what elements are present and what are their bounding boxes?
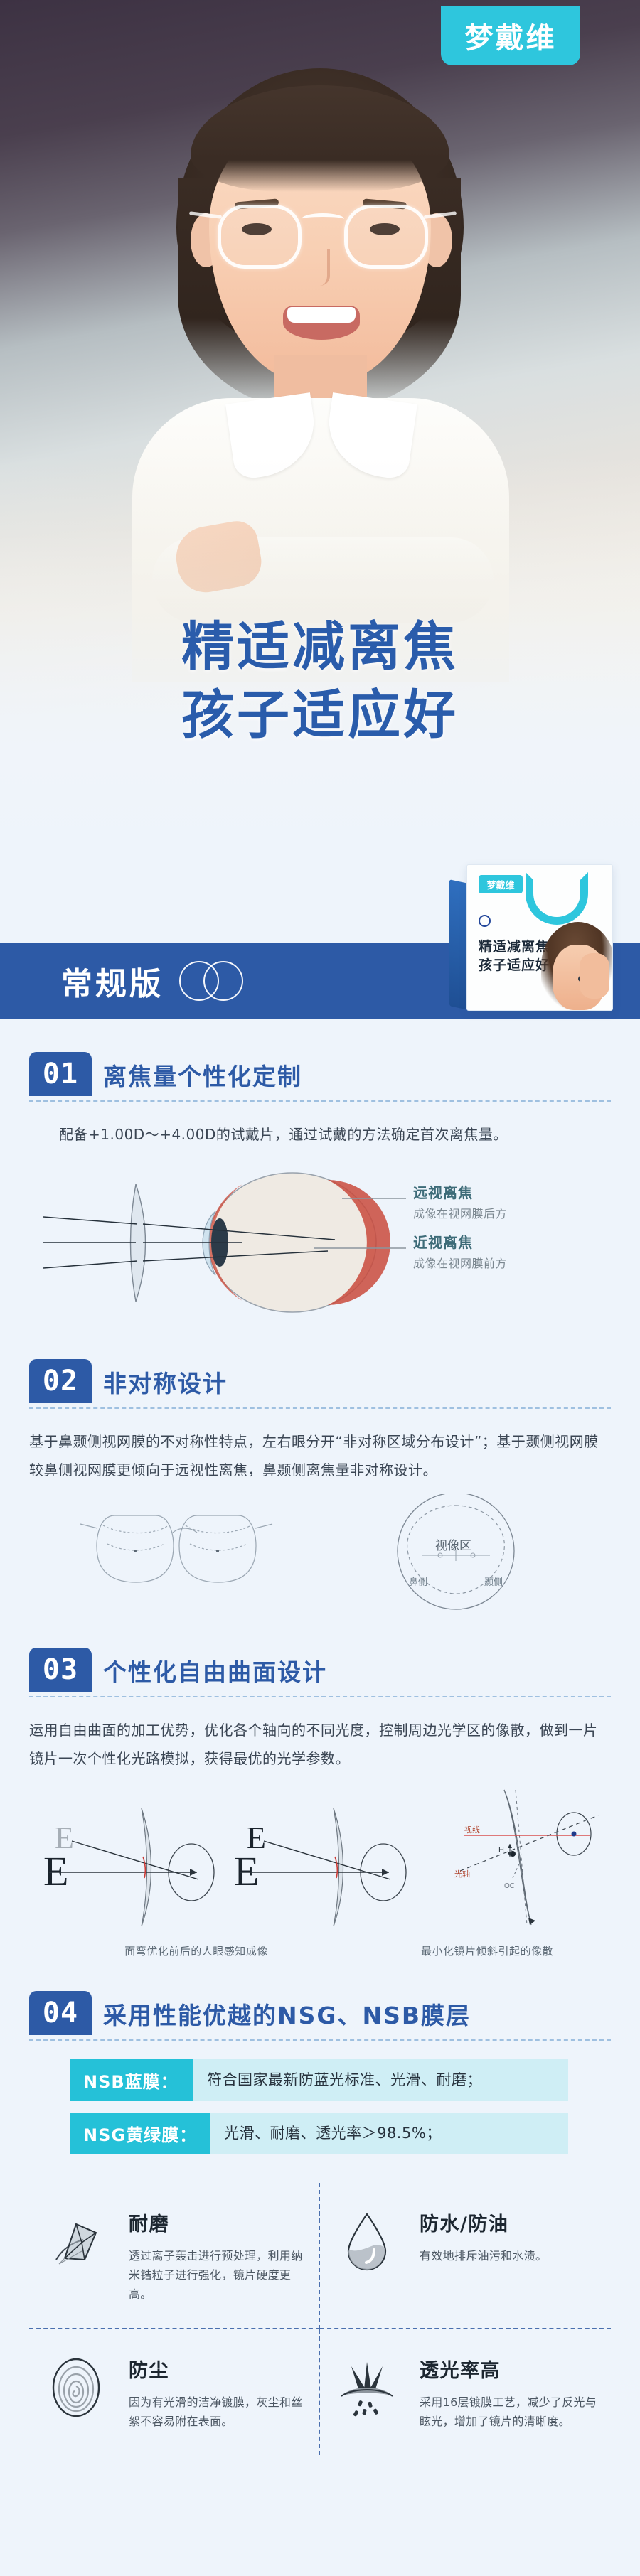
product-box-title-line-1: 精适减离焦 (479, 936, 550, 955)
hero-title-line-2: 孩子适应好 (0, 681, 640, 749)
eyeglass-bridge (302, 213, 344, 225)
product-box-circle-mark (479, 915, 491, 927)
label-imaging-zone: 视像区 (435, 1535, 471, 1553)
section-03-number: 03 (29, 1648, 92, 1692)
feature-text-waterproof-oilproof: 防水/防油 有效地排斥油污和水渍。 (420, 2204, 547, 2265)
feature-title-light-transmission: 透光率高 (420, 2355, 601, 2383)
product-box-child-hand (580, 953, 609, 999)
section-03-divider (29, 1696, 611, 1697)
brand-logo: 梦戴维 (441, 6, 580, 65)
figure-caption-1: 面弯优化前后的人眼感知成像 (29, 1943, 363, 1958)
feature-item-light-transmission: 透光率高 采用16层镀膜工艺，减少了反光与眩光，增加了镜片的清晰度。 (320, 2329, 611, 2455)
product-infographic-page: 梦戴维 精适减离焦 孩子适应好 常规版 梦戴维 精适减离焦 (0, 0, 640, 2484)
feature-title-waterproof-oilproof: 防水/防油 (420, 2209, 547, 2236)
diamond-icon (39, 2204, 113, 2278)
coating-list: NSB蓝膜： 符合国家最新防蓝光标准、光滑、耐磨； NSG黄绿膜： 光滑、耐磨、… (70, 2059, 611, 2154)
teeth-shape (287, 307, 356, 323)
label-temporal-side: 颞侧 (484, 1574, 503, 1588)
label-optic-axis: 光轴 (454, 1869, 470, 1879)
version-label: 常规版 (61, 958, 164, 1004)
section-02: 02 非对称设计 基于鼻颞侧视网膜的不对称性特点，左右眼分开“非对称区域分布设计… (29, 1359, 611, 1615)
label-oc: OC (504, 1882, 515, 1890)
figure-caption-2: 最小化镜片倾斜引起的像散 (363, 1943, 611, 1958)
product-box-title-line-2: 孩子适应好 (479, 955, 550, 974)
section-03: 03 个性化自由曲面设计 运用自由曲面的加工优势，优化各个轴向的不同光度，控制周… (29, 1648, 611, 1958)
feature-desc-light-transmission: 采用16层镀膜工艺，减少了反光与眩光，增加了镜片的清晰度。 (420, 2393, 601, 2431)
water-drop-icon (330, 2204, 404, 2278)
eyeglass-lens-left (218, 205, 302, 269)
product-box-front: 梦戴维 精适减离焦 孩子适应好 (466, 864, 613, 1011)
section-03-title: 个性化自由曲面设计 (103, 1653, 611, 1692)
letter-E-right-top: E (247, 1820, 266, 1855)
feature-desc-waterproof-oilproof: 有效地排斥油污和水渍。 (420, 2246, 547, 2265)
section-03-header: 03 个性化自由曲面设计 (29, 1648, 611, 1692)
section-02-number: 02 (29, 1359, 92, 1403)
product-box-arc-graphic (526, 872, 588, 925)
figure-asymmetric-lens-design: 视像区 鼻侧 颞侧 (29, 1494, 611, 1615)
section-04-number: 04 (29, 1991, 92, 2035)
version-banner: 常规版 梦戴维 精适减离焦 孩子适应好 (0, 943, 640, 1019)
freeform-optics-svg: E E E E (29, 1778, 611, 1942)
feature-text-wear-resistance: 耐磨 透过离子轰击进行预处理，利用纳米锆粒子进行强化，镜片硬度更高。 (129, 2204, 309, 2304)
section-02-divider (29, 1407, 611, 1409)
label-myopic-defocus: 近视离焦 成像在视网膜前方 (413, 1231, 507, 1271)
section-01-divider (29, 1100, 611, 1102)
feature-item-wear-resistance: 耐磨 透过离子轰击进行预处理，利用纳米锆粒子进行强化，镜片硬度更高。 (29, 2183, 320, 2329)
brand-logo-text: 梦戴维 (465, 15, 557, 56)
label-nasal-side: 鼻侧 (409, 1574, 427, 1588)
coating-key-nsb: NSB蓝膜： (70, 2059, 193, 2101)
content-sheet: 常规版 梦戴维 精适减离焦 孩子适应好 (0, 943, 640, 2484)
coating-row-nsb: NSB蓝膜： 符合国家最新防蓝光标准、光滑、耐磨； (70, 2059, 568, 2101)
coating-value-nsb: 符合国家最新防蓝光标准、光滑、耐磨； (193, 2059, 496, 2101)
feature-title-dustproof: 防尘 (129, 2355, 309, 2383)
label-hyperopic-defocus: 远视离焦 成像在视网膜后方 (413, 1181, 507, 1221)
figure-freeform-optics: E E E E (29, 1778, 611, 1942)
section-04: 04 采用性能优越的NSG、NSB膜层 NSB蓝膜： 符合国家最新防蓝光标准、光… (29, 1991, 611, 2455)
section-01-header: 01 离焦量个性化定制 (29, 1052, 611, 1096)
label-myopic-defocus-sub: 成像在视网膜前方 (413, 1254, 507, 1271)
feature-title-wear-resistance: 耐磨 (129, 2209, 309, 2236)
sections-container: 01 离焦量个性化定制 配备+1.00D～+4.00D的试戴片，通过试戴的方法确… (29, 1052, 611, 2455)
eye-diagram-svg (29, 1156, 611, 1326)
section-02-body: 基于鼻颞侧视网膜的不对称性特点，左右眼分开“非对称区域分布设计”；基于颞侧视网膜… (29, 1427, 611, 1484)
feature-grid: 耐磨 透过离子轰击进行预处理，利用纳米锆粒子进行强化，镜片硬度更高。 (29, 2183, 611, 2455)
figure-eye-defocus-diagram: 远视离焦 成像在视网膜后方 近视离焦 成像在视网膜前方 (29, 1156, 611, 1326)
feature-text-dustproof: 防尘 因为有光滑的洁净镀膜，灰尘和丝絮不容易附在表面。 (129, 2351, 309, 2431)
coating-key-nsg: NSG黄绿膜： (70, 2113, 210, 2154)
section-01-number: 01 (29, 1052, 92, 1096)
coating-row-nsg: NSG黄绿膜： 光滑、耐磨、透光率＞98.5%； (70, 2113, 568, 2154)
label-height-h: H (498, 1846, 504, 1855)
hair-fringe (191, 85, 449, 192)
label-myopic-defocus-title: 近视离焦 (413, 1231, 507, 1252)
label-hyperopic-defocus-title: 远视离焦 (413, 1181, 507, 1202)
feature-item-waterproof-oilproof: 防水/防油 有效地排斥油污和水渍。 (320, 2183, 611, 2329)
eyeglass-lens-right (344, 205, 428, 269)
overlapping-circles-icon (179, 961, 245, 1001)
section-04-title: 采用性能优越的NSG、NSB膜层 (103, 1997, 611, 2035)
coating-value-nsg: 光滑、耐磨、透光率＞98.5%； (210, 2113, 456, 2154)
section-03-body: 运用自由曲面的加工优势，优化各个轴向的不同光度，控制周边光学区的像散，做到一片镜… (29, 1716, 611, 1773)
section-01-body: 配备+1.00D～+4.00D的试戴片，通过试戴的方法确定首次离焦量。 (29, 1120, 611, 1149)
product-box-logo: 梦戴维 (479, 875, 523, 893)
nose-shape (311, 249, 330, 286)
section-04-header: 04 采用性能优越的NSG、NSB膜层 (29, 1991, 611, 2035)
hero-title: 精适减离焦 孩子适应好 (0, 613, 640, 749)
feature-text-light-transmission: 透光率高 采用16层镀膜工艺，减少了反光与眩光，增加了镜片的清晰度。 (420, 2351, 601, 2431)
section-04-divider (29, 2039, 611, 2041)
label-hyperopic-defocus-sub: 成像在视网膜后方 (413, 1204, 507, 1221)
section-01: 01 离焦量个性化定制 配备+1.00D～+4.00D的试戴片，通过试戴的方法确… (29, 1052, 611, 1326)
feature-item-dustproof: 防尘 因为有光滑的洁净镀膜，灰尘和丝絮不容易附在表面。 (29, 2329, 320, 2455)
product-box-side (449, 879, 468, 1010)
product-box-illustration: 梦戴维 精适减离焦 孩子适应好 (449, 864, 614, 1011)
letter-E-left-blurred: E (55, 1820, 74, 1855)
hero-banner: 梦戴维 精适减离焦 孩子适应好 (0, 0, 640, 860)
label-sight-line: 视线 (464, 1825, 480, 1835)
section-02-header: 02 非对称设计 (29, 1359, 611, 1403)
feature-desc-wear-resistance: 透过离子轰击进行预处理，利用纳米锆粒子进行强化，镜片硬度更高。 (129, 2246, 309, 2304)
mouth-shape (283, 306, 360, 340)
hero-title-line-1: 精适减离焦 (0, 613, 640, 681)
fingerprint-icon (39, 2351, 113, 2425)
section-03-figure-captions: 面弯优化前后的人眼感知成像 最小化镜片倾斜引起的像散 (29, 1943, 611, 1958)
feature-desc-dustproof: 因为有光滑的洁净镀膜，灰尘和丝絮不容易附在表面。 (129, 2393, 309, 2431)
asymmetric-design-svg (29, 1494, 611, 1615)
section-02-title: 非对称设计 (103, 1365, 611, 1403)
light-transmission-icon (330, 2351, 404, 2425)
section-01-title: 离焦量个性化定制 (103, 1058, 611, 1096)
